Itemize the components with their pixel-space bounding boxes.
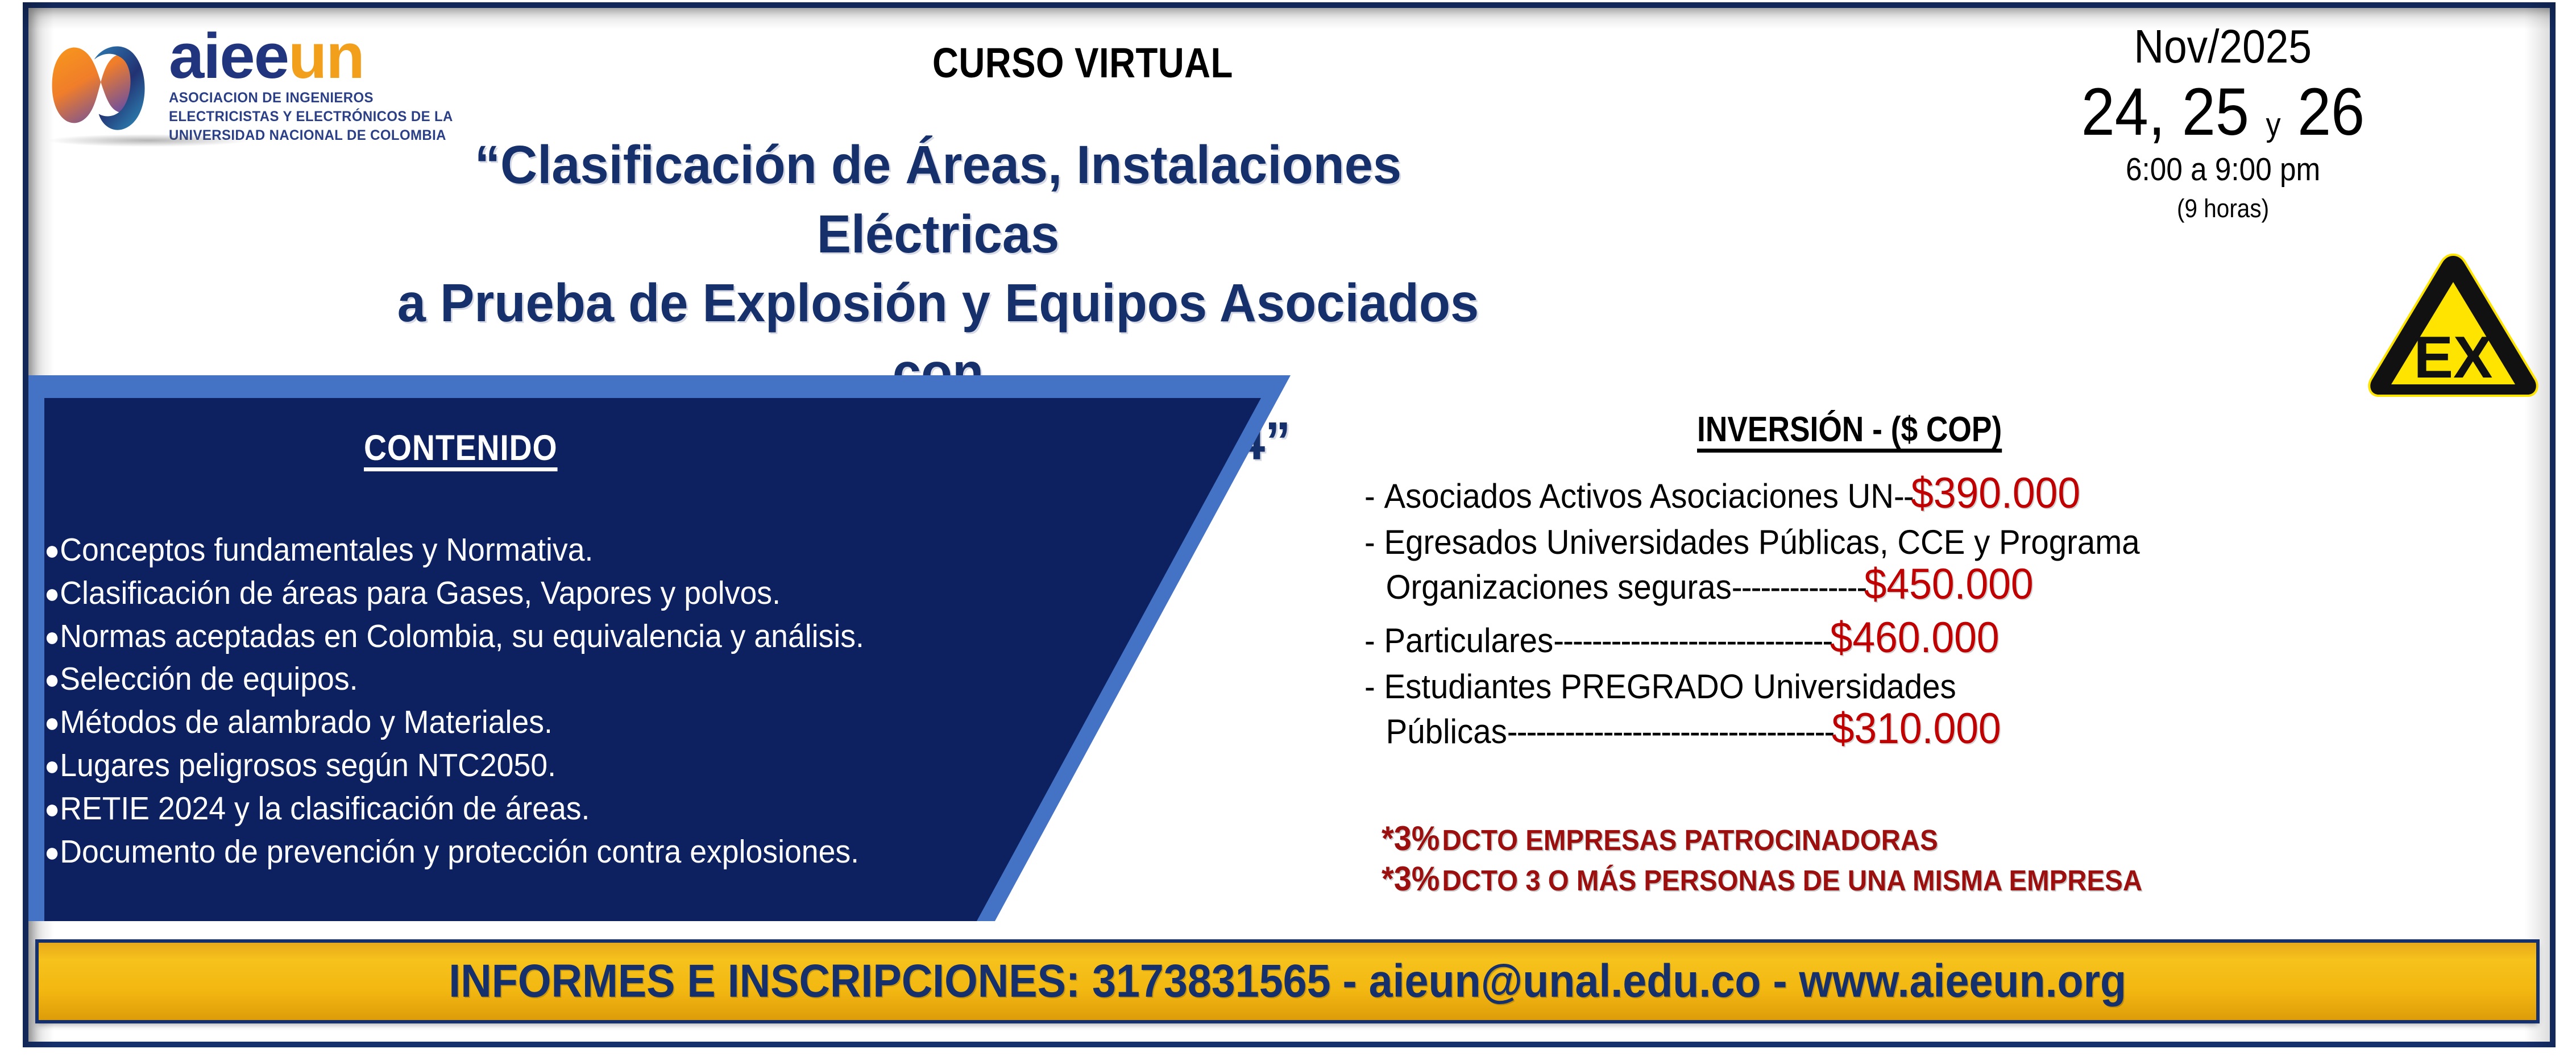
list-item-label: Lugares peligrosos según NTC2050. xyxy=(60,747,556,784)
price-row-label: Organizaciones seguras xyxy=(1386,570,1732,604)
list-item-label: RETIE 2024 y la clasificación de áreas. xyxy=(60,790,590,827)
bullet-dot-icon: ● xyxy=(44,794,60,824)
logo-word-un: un xyxy=(288,20,364,92)
schedule-days: 24, 25 y 26 xyxy=(2081,74,2365,150)
schedule-days-first: 24, 25 xyxy=(2081,74,2249,150)
list-item-label: Normas aceptadas en Colombia, su equival… xyxy=(60,618,864,654)
schedule-block: Nov/2025 24, 25 y 26 6:00 a 9:00 pm (9 h… xyxy=(2001,23,2445,222)
discount-percent: *3% xyxy=(1382,819,1440,857)
logo-subtitle-line-1: ASOCIACION DE INGENIEROS xyxy=(169,89,453,107)
price-row: Organizaciones seguras -------------- $4… xyxy=(1364,563,2492,606)
schedule-time: 6:00 a 9:00 pm xyxy=(2126,152,2320,188)
list-item-label: Selección de equipos. xyxy=(60,661,358,697)
price-row: - Asociados Activos Asociaciones UN -- $… xyxy=(1364,472,2492,515)
logo-drop-shadow xyxy=(49,134,248,147)
price-row: - Particulares -------------------------… xyxy=(1364,616,2492,660)
price-row-leader: -------------- xyxy=(1732,570,1866,604)
list-item-label: Conceptos fundamentales y Normativa. xyxy=(60,532,593,568)
content-bullet-list: ●Conceptos fundamentales y Normativa. ●C… xyxy=(44,529,1284,873)
investment-price-list: - Asociados Activos Asociaciones UN -- $… xyxy=(1364,472,2564,761)
logo-subtitle-line-2: ELECTRICISTAS Y ELECTRÓNICOS DE LA xyxy=(169,107,453,126)
bullet-dot-icon: ● xyxy=(44,751,60,781)
price-row-label: Públicas xyxy=(1386,715,1507,749)
flyer-root: aieeun ASOCIACION DE INGENIEROS ELECTRIC… xyxy=(0,0,2576,1057)
infinity-wave-logo-icon xyxy=(41,25,163,147)
logo-wordmark: aieeun xyxy=(169,27,465,85)
price-row: Públicas -------------------------------… xyxy=(1364,707,2492,751)
investment-heading: INVERSIÓN - ($ COP) xyxy=(1697,409,2002,450)
discount-percent: *3% xyxy=(1382,860,1440,898)
price-row-label: Egresados Universidades Públicas, CCE y … xyxy=(1384,525,2139,559)
discount-note: *3% DCTO 3 O MÁS PERSONAS DE UNA MISMA E… xyxy=(1382,859,2487,900)
logo-word-aiee: aiee xyxy=(169,20,288,92)
list-item-label: Clasificación de áreas para Gases, Vapor… xyxy=(60,575,781,611)
list-item: ●Conceptos fundamentales y Normativa. xyxy=(44,529,1209,572)
contact-banner[interactable]: INFORMES E INSCRIPCIONES: 3173831565 - a… xyxy=(35,939,2540,1023)
schedule-day-last: 26 xyxy=(2297,74,2365,150)
ex-icon-label: EX xyxy=(2414,325,2493,391)
list-item: ●Normas aceptadas en Colombia, su equiva… xyxy=(44,615,1209,658)
schedule-month: Nov/2025 xyxy=(2134,23,2312,71)
discount-text: DCTO EMPRESAS PATROCINADORAS xyxy=(1442,824,1938,856)
schedule-duration: (9 horas) xyxy=(2177,194,2269,223)
price-row-label: Particulares xyxy=(1384,624,1553,658)
price-row-leader: ----------------------------- xyxy=(1553,624,1832,658)
content-heading: CONTENIDO xyxy=(364,428,558,469)
discount-note: *3% DCTO EMPRESAS PATROCINADORAS xyxy=(1382,819,2487,859)
course-kicker: CURSO VIRTUAL xyxy=(932,39,1233,87)
list-item: ●Métodos de alambrado y Materiales. xyxy=(44,701,1209,744)
bullet-dot-icon: ● xyxy=(44,838,60,868)
price-row-dash: - xyxy=(1364,670,1375,704)
list-item: ●Documento de prevención y protección co… xyxy=(44,831,1209,874)
list-item: ●RETIE 2024 y la clasificación de áreas. xyxy=(44,787,1209,831)
contact-banner-text: INFORMES E INSCRIPCIONES: 3173831565 - a… xyxy=(449,955,2126,1008)
bullet-dot-icon: ● xyxy=(44,622,60,652)
price-row-amount: $460.000 xyxy=(1830,616,2000,660)
price-row-dash: - xyxy=(1364,525,1375,559)
price-row-dash: - xyxy=(1364,479,1375,513)
ex-hazard-triangle-icon: EX xyxy=(2365,250,2541,404)
price-row-dash: - xyxy=(1364,624,1375,658)
price-row-amount: $390.000 xyxy=(1911,472,2080,515)
schedule-conjunction: y xyxy=(2266,106,2281,143)
discount-text: DCTO 3 O MÁS PERSONAS DE UNA MISMA EMPRE… xyxy=(1442,864,2143,897)
price-row: - Estudiantes PREGRADO Universidades xyxy=(1364,670,2492,704)
course-title-line-1: “Clasificación de Áreas, Instalaciones E… xyxy=(393,131,1484,269)
price-row-leader: ---------------------------------- xyxy=(1507,715,1834,749)
list-item: ●Clasificación de áreas para Gases, Vapo… xyxy=(44,572,1209,615)
discount-notes: *3% DCTO EMPRESAS PATROCINADORAS *3% DCT… xyxy=(1382,819,2570,900)
price-row-leader: -- xyxy=(1894,479,1913,513)
price-row-amount: $310.000 xyxy=(1832,707,2001,751)
bullet-dot-icon: ● xyxy=(44,708,60,738)
list-item-label: Métodos de alambrado y Materiales. xyxy=(60,704,553,740)
list-item-label: Documento de prevención y protección con… xyxy=(60,834,859,870)
list-item: ●Selección de equipos. xyxy=(44,658,1209,701)
bullet-dot-icon: ● xyxy=(44,665,60,695)
price-row-label: Estudiantes PREGRADO Universidades xyxy=(1384,670,1956,704)
price-row-amount: $450.000 xyxy=(1864,563,2034,606)
price-row: - Egresados Universidades Públicas, CCE … xyxy=(1364,525,2492,559)
bullet-dot-icon: ● xyxy=(44,536,60,566)
list-item: ●Lugares peligrosos según NTC2050. xyxy=(44,744,1209,787)
price-row-label: Asociados Activos Asociaciones UN xyxy=(1384,479,1894,513)
bullet-dot-icon: ● xyxy=(44,579,60,609)
